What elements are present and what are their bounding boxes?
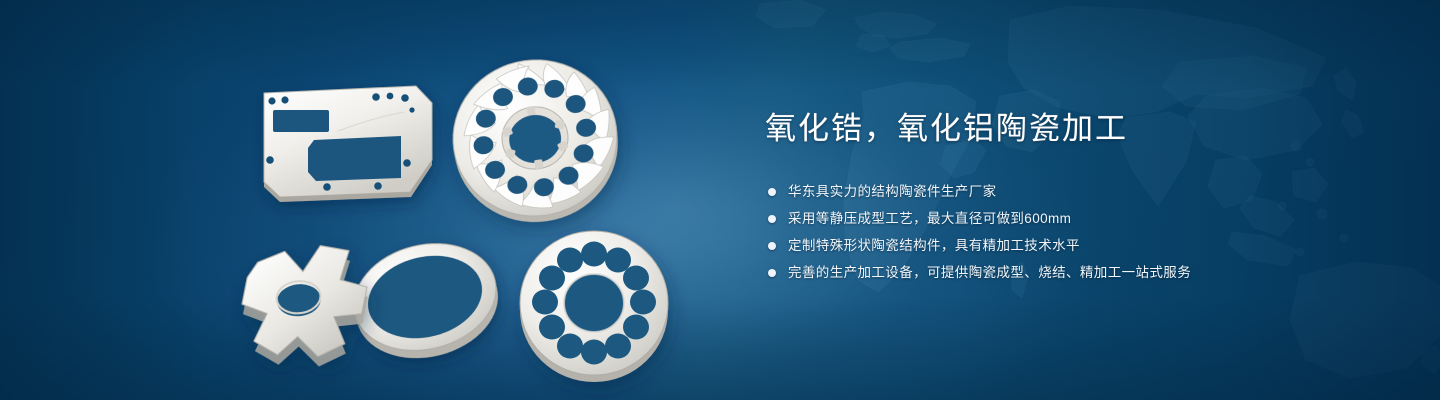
ceramic-products-image (0, 0, 720, 400)
list-item: 采用等静压成型工艺，最大直径可做到600mm (765, 207, 1385, 231)
page-title: 氧化锆，氧化铝陶瓷加工 (765, 108, 1385, 150)
ceramic-plate-part (264, 86, 432, 202)
ceramic-thin-ring-part (343, 229, 510, 373)
feature-list: 华东具实力的结构陶瓷件生产厂家 采用等静压成型工艺，最大直径可做到600mm 定… (765, 180, 1385, 285)
ceramic-cross-part (237, 241, 375, 374)
promo-banner: 氧化锆，氧化铝陶瓷加工 华东具实力的结构陶瓷件生产厂家 采用等静压成型工艺，最大… (0, 0, 1440, 400)
list-item: 定制特殊形状陶瓷结构件，具有精加工技术水平 (765, 234, 1385, 258)
list-item-label: 华东具实力的结构陶瓷件生产厂家 (788, 180, 997, 204)
list-item: 完善的生产加工设备，可提供陶瓷成型、烧结、精加工一站式服务 (765, 261, 1385, 285)
list-item-label: 完善的生产加工设备，可提供陶瓷成型、烧结、精加工一站式服务 (788, 261, 1191, 285)
banner-copy: 氧化锆，氧化铝陶瓷加工 华东具实力的结构陶瓷件生产厂家 采用等静压成型工艺，最大… (765, 108, 1385, 288)
bullet-dot-icon (768, 269, 776, 277)
bullet-dot-icon (768, 242, 776, 250)
list-item: 华东具实力的结构陶瓷件生产厂家 (765, 180, 1385, 204)
ceramic-perforated-ring-part (520, 231, 668, 382)
list-item-label: 定制特殊形状陶瓷结构件，具有精加工技术水平 (788, 234, 1080, 258)
bullet-dot-icon (768, 215, 776, 223)
bullet-dot-icon (768, 188, 776, 196)
list-item-label: 采用等静压成型工艺，最大直径可做到600mm (788, 207, 1071, 231)
ceramic-impeller-part (443, 49, 628, 232)
